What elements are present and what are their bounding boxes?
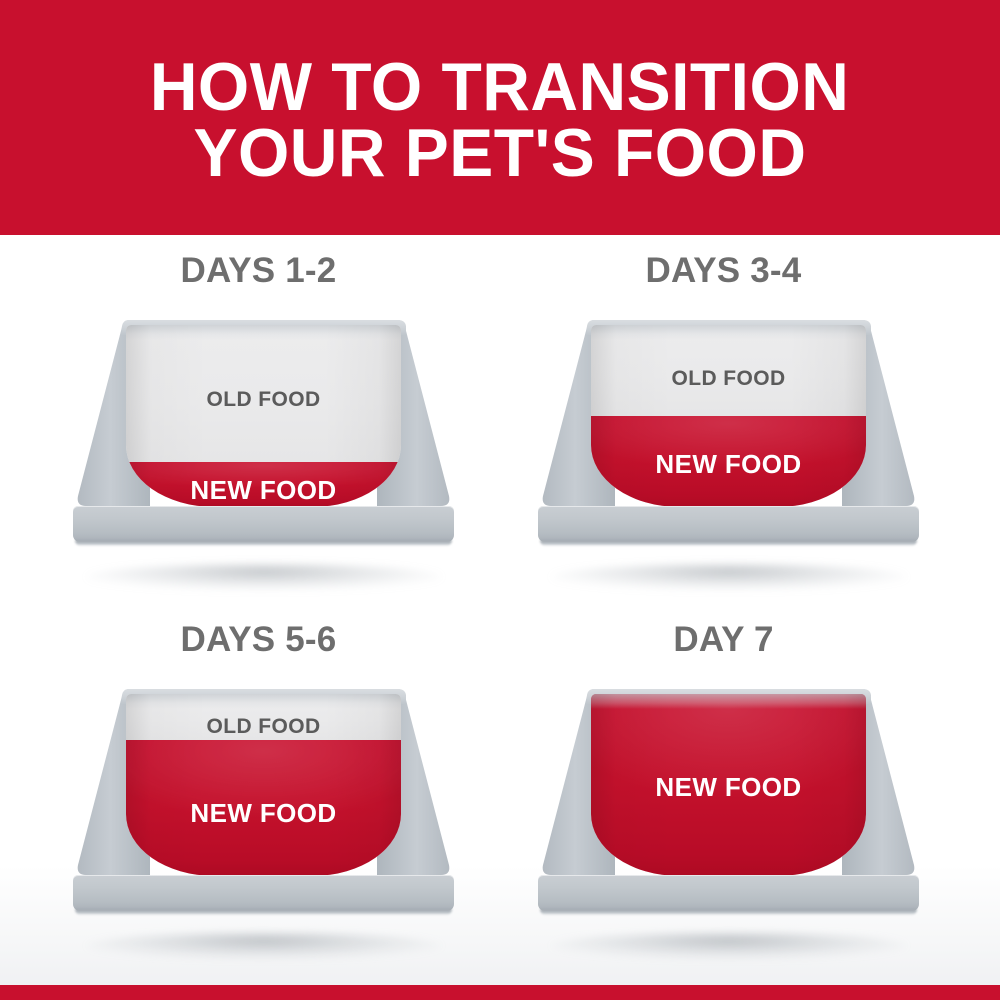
old-food-label: OLD FOOD (126, 715, 401, 739)
transition-step-card: DAY 7 (491, 620, 956, 980)
old-food-label: OLD FOOD (591, 367, 866, 391)
day-label: DAY 7 (491, 620, 956, 660)
day-label: DAYS 5-6 (26, 620, 491, 660)
bowl-base (73, 875, 454, 911)
transition-step-card: DAYS 1-2 (26, 251, 491, 611)
old-food-label: OLD FOOD (126, 388, 401, 412)
bowl-base-foot (540, 909, 917, 915)
bowl-base-foot (75, 540, 452, 546)
bowl-food-well: OLD FOOD NEW FOOD (591, 325, 866, 507)
bowl-food-well: OLD FOOD NEW FOOD (126, 325, 401, 507)
bowl-shadow (86, 564, 442, 590)
bowl-shadow (86, 933, 442, 959)
bowl-base-foot (75, 909, 452, 915)
bowl-base (73, 506, 454, 542)
bowl-food-well: OLD FOOD NEW FOOD (126, 694, 401, 876)
bowl-shadow (551, 564, 907, 590)
new-food-label: NEW FOOD (591, 772, 866, 803)
bowl-base-foot (540, 540, 917, 546)
transition-steps-area: DAYS 1-2 (0, 235, 1000, 985)
page-title-line-2: YOUR PET'S FOOD (193, 121, 806, 186)
food-bowl: OLD FOOD NEW FOOD (72, 318, 455, 580)
bowl-shadow (551, 933, 907, 959)
new-food-label: NEW FOOD (126, 798, 401, 829)
page-title-line-1: HOW TO TRANSITION (150, 55, 850, 120)
food-bowl: OLD FOOD NEW FOOD (537, 318, 920, 580)
transition-step-card: DAYS 5-6 (26, 620, 491, 980)
header-banner: HOW TO TRANSITION YOUR PET'S FOOD (0, 0, 1000, 235)
transition-step-card: DAYS 3-4 (491, 251, 956, 611)
bowl-base (538, 875, 919, 911)
day-label: DAYS 1-2 (26, 251, 491, 291)
bowl-base (538, 506, 919, 542)
food-bowl: OLD FOOD NEW FOOD (72, 687, 455, 949)
day-label: DAYS 3-4 (491, 251, 956, 291)
food-bowl: NEW FOOD (537, 687, 920, 949)
bowl-grid: DAYS 1-2 (0, 235, 1000, 985)
new-food-label: NEW FOOD (126, 475, 401, 506)
footer-accent-strip (0, 985, 1000, 1000)
new-food-label: NEW FOOD (591, 449, 866, 480)
bowl-food-well: NEW FOOD (591, 694, 866, 876)
